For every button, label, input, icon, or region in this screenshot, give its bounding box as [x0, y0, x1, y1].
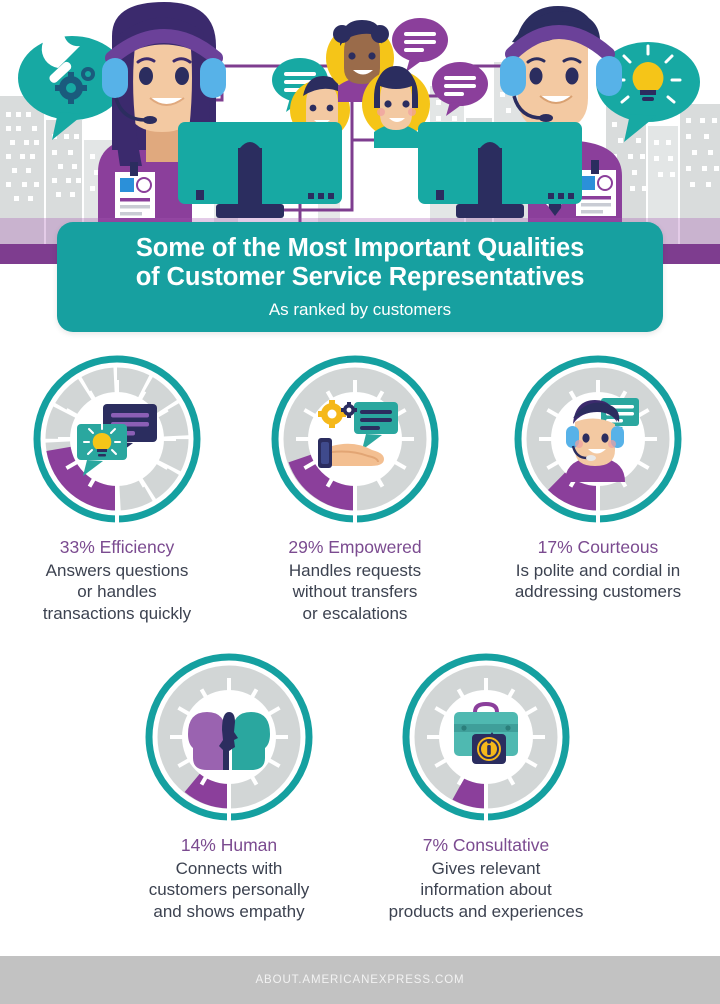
stats-row-2: 14% Human Connects with customers person…: [0, 650, 720, 922]
page-title: Some of the Most Important Qualities of …: [122, 234, 599, 293]
stat-body: Is polite and cordial in addressing cust…: [515, 560, 681, 603]
stat-body-line: addressing customers: [515, 582, 681, 601]
stat-body: Connects with customers personally and s…: [149, 858, 310, 922]
title-card: Some of the Most Important Qualities of …: [57, 222, 663, 332]
agent-headset-chat-icon: [511, 352, 685, 526]
stat-body-line: transactions quickly: [43, 604, 191, 623]
stats-section: 33% Efficiency Answers questions or hand…: [0, 352, 720, 922]
stat-body-line: Handles requests: [289, 561, 421, 580]
monitor-right: [418, 122, 582, 218]
stat-efficiency: 33% Efficiency Answers questions or hand…: [4, 352, 230, 624]
stat-heading: 29% Empowered: [288, 537, 421, 559]
footer-bar: ABOUT.AMERICANEXPRESS.COM: [0, 956, 720, 1004]
stat-body-line: Connects with: [176, 859, 283, 878]
stat-body-line: Gives relevant: [432, 859, 541, 878]
hand-gears-chat-icon: [268, 352, 442, 526]
stat-consultative: 7% Consultative Gives relevant informati…: [368, 650, 604, 922]
stat-empowered: 29% Empowered Handles requests without t…: [242, 352, 468, 624]
infographic-page: Some of the Most Important Qualities of …: [0, 0, 720, 1004]
stat-body-line: Answers questions: [46, 561, 189, 580]
footer-source-link[interactable]: ABOUT.AMERICANEXPRESS.COM: [255, 974, 464, 986]
two-heads-icon: [142, 650, 316, 824]
stats-row-1: 33% Efficiency Answers questions or hand…: [0, 352, 720, 624]
page-title-line2: of Customer Service Representatives: [136, 263, 585, 291]
donut-efficiency: [30, 352, 204, 526]
stat-body: Handles requests without transfers or es…: [288, 560, 421, 624]
stat-body-line: without transfers: [293, 582, 418, 601]
stat-heading: 7% Consultative: [389, 835, 584, 857]
stat-body-line: customers personally: [149, 880, 310, 899]
stat-body-line: information about: [420, 880, 551, 899]
stat-heading: 17% Courteous: [515, 537, 681, 559]
donut-consultative: [399, 650, 573, 824]
caption-empowered: 29% Empowered Handles requests without t…: [288, 537, 421, 624]
page-subtitle: As ranked by customers: [269, 300, 451, 320]
stat-body-line: Is polite and cordial in: [516, 561, 680, 580]
stat-courteous: 17% Courteous Is polite and cordial in a…: [480, 352, 716, 624]
page-title-line1: Some of the Most Important Qualities: [136, 234, 584, 262]
caption-consultative: 7% Consultative Gives relevant informati…: [389, 835, 584, 922]
stat-body-line: or escalations: [303, 604, 408, 623]
caption-courteous: 17% Courteous Is polite and cordial in a…: [515, 537, 681, 603]
donut-empowered: [268, 352, 442, 526]
chat-bubbles-lightbulb-icon: [30, 352, 204, 526]
stat-body: Gives relevant information about product…: [389, 858, 584, 922]
donut-human: [142, 650, 316, 824]
stat-body-line: or handles: [77, 582, 156, 601]
caption-human: 14% Human Connects with customers person…: [149, 835, 310, 922]
stat-human: 14% Human Connects with customers person…: [116, 650, 342, 922]
briefcase-info-icon: [399, 650, 573, 824]
stat-body: Answers questions or handles transaction…: [43, 560, 191, 624]
monitor-left: [178, 122, 342, 218]
caption-efficiency: 33% Efficiency Answers questions or hand…: [43, 537, 191, 624]
stat-body-line: products and experiences: [389, 902, 584, 921]
stat-heading: 14% Human: [149, 835, 310, 857]
stat-body-line: and shows empathy: [153, 902, 304, 921]
stat-heading: 33% Efficiency: [43, 537, 191, 559]
donut-courteous: [511, 352, 685, 526]
